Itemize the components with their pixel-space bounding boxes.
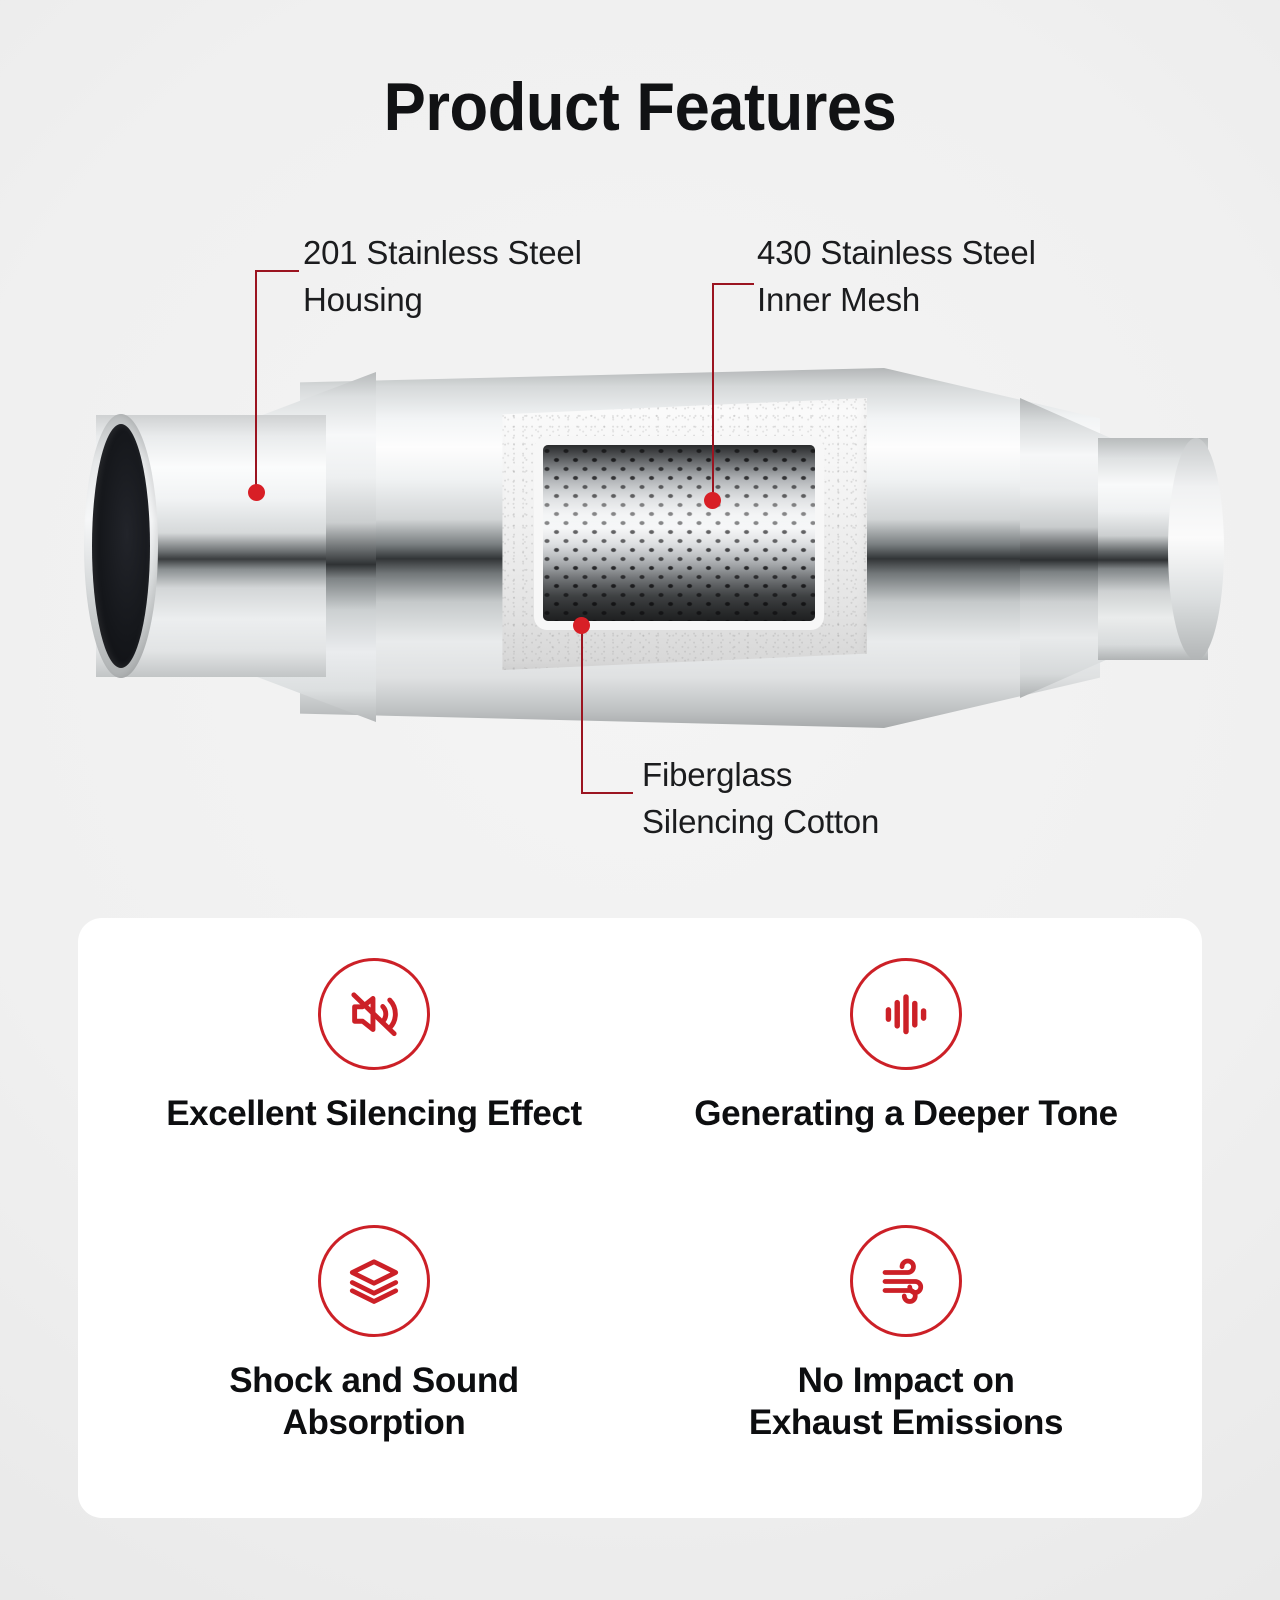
feature-item-silencing[interactable]: Excellent Silencing Effect (108, 958, 640, 1225)
feature-label-absorption: Shock and Sound Absorption (229, 1360, 519, 1444)
feature-item-emissions[interactable]: No Impact on Exhaust Emissions (640, 1225, 1172, 1492)
perforated-inner-mesh (543, 445, 815, 621)
layers-stack-icon (318, 1225, 430, 1337)
callout-leader-housing-horizontal (255, 270, 299, 272)
feature-label-deeper-tone: Generating a Deeper Tone (694, 1093, 1117, 1135)
callout-leader-mesh-vertical (712, 283, 714, 500)
feature-label-emissions: No Impact on Exhaust Emissions (749, 1360, 1063, 1444)
callout-dot-housing (248, 484, 265, 501)
feature-card: Excellent Silencing Effect Generating a … (78, 918, 1202, 1518)
callout-leader-mesh-horizontal (712, 283, 754, 285)
sound-wave-icon (850, 958, 962, 1070)
callout-label-silencing-cotton: Fiberglass Silencing Cotton (642, 752, 879, 846)
feature-label-silencing: Excellent Silencing Effect (166, 1093, 582, 1135)
feature-item-absorption[interactable]: Shock and Sound Absorption (108, 1225, 640, 1492)
muffler-inlet-pipe-bore (92, 424, 150, 668)
mute-speaker-icon (318, 958, 430, 1070)
feature-grid: Excellent Silencing Effect Generating a … (78, 918, 1202, 1518)
callout-dot-silencing-cotton (573, 617, 590, 634)
product-hero-image: 201 Stainless Steel Housing 430 Stainles… (0, 0, 1280, 900)
callout-leader-cotton-horizontal (581, 792, 633, 794)
callout-leader-housing-vertical (255, 270, 257, 492)
callout-leader-cotton-vertical (581, 628, 583, 794)
feature-item-deeper-tone[interactable]: Generating a Deeper Tone (640, 958, 1172, 1225)
callout-label-inner-mesh: 430 Stainless Steel Inner Mesh (757, 230, 1036, 324)
wind-airflow-icon (850, 1225, 962, 1337)
mesh-tube-sheen (543, 445, 815, 621)
muffler-outlet-pipe-end (1168, 438, 1224, 660)
muffler-illustration (0, 0, 1280, 900)
callout-dot-inner-mesh (704, 492, 721, 509)
callout-label-housing: 201 Stainless Steel Housing (303, 230, 582, 324)
